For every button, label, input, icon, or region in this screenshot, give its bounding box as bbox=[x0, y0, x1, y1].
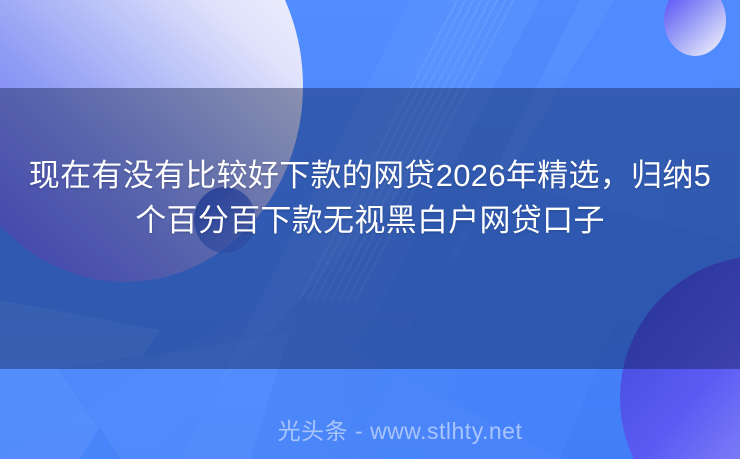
page-title: 现在有没有比较好下款的网贷2026年精选，归纳5个百分百下款无视黑白户网贷口子 bbox=[20, 153, 720, 243]
site-watermark: 光头条 - www.stlhty.net bbox=[0, 417, 740, 445]
poster-canvas: 现在有没有比较好下款的网贷2026年精选，归纳5个百分百下款无视黑白户网贷口子 … bbox=[0, 0, 740, 459]
